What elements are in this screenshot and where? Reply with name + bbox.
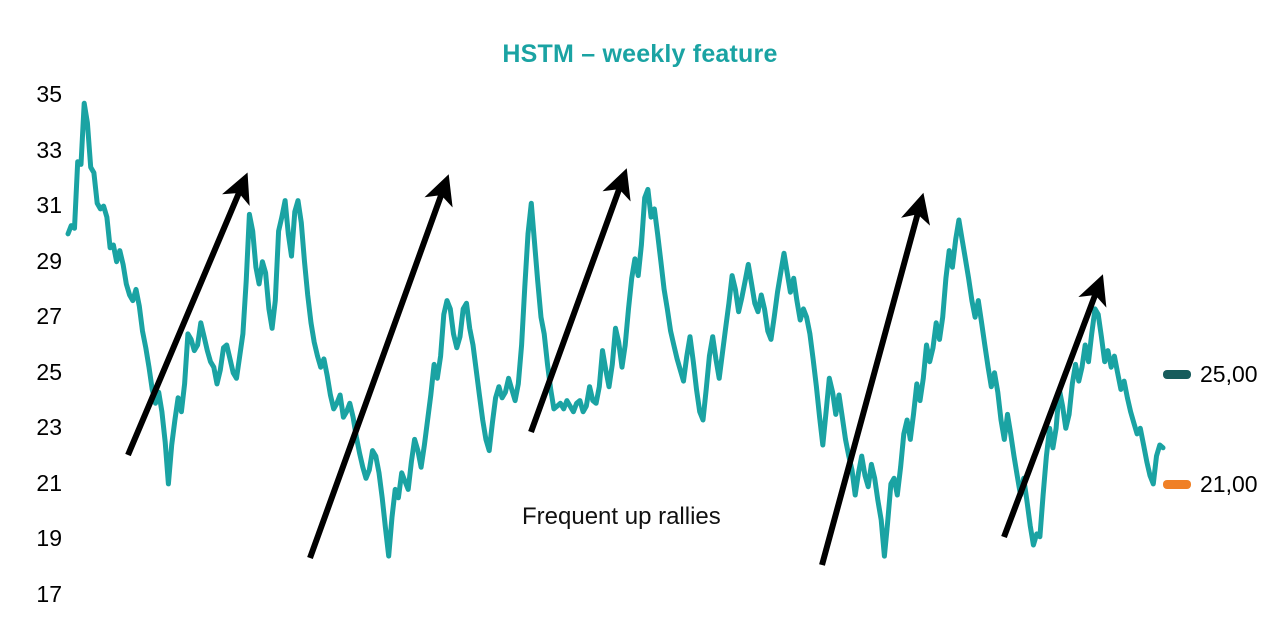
- legend-label-21: 21,00: [1200, 473, 1258, 496]
- trend-arrow-2: [310, 190, 443, 558]
- trend-arrow-4: [822, 209, 919, 565]
- chart-page: HSTM – weekly feature 353331292725232119…: [0, 0, 1280, 623]
- legend-label-25: 25,00: [1200, 363, 1258, 386]
- trend-arrow-5: [1004, 290, 1097, 537]
- legend-swatch-21-icon: [1163, 480, 1191, 489]
- trend-arrow-1: [128, 188, 241, 455]
- legend-entry-21[interactable]: 21,00: [1163, 473, 1258, 496]
- legend-entry-25[interactable]: 25,00: [1163, 363, 1258, 386]
- trend-arrow-3: [531, 184, 621, 432]
- annotation-frequent-up-rallies: Frequent up rallies: [522, 503, 721, 531]
- series-line-hstm-weekly: [68, 103, 1163, 556]
- legend-swatch-25-icon: [1163, 370, 1191, 379]
- series-group: [68, 103, 1163, 556]
